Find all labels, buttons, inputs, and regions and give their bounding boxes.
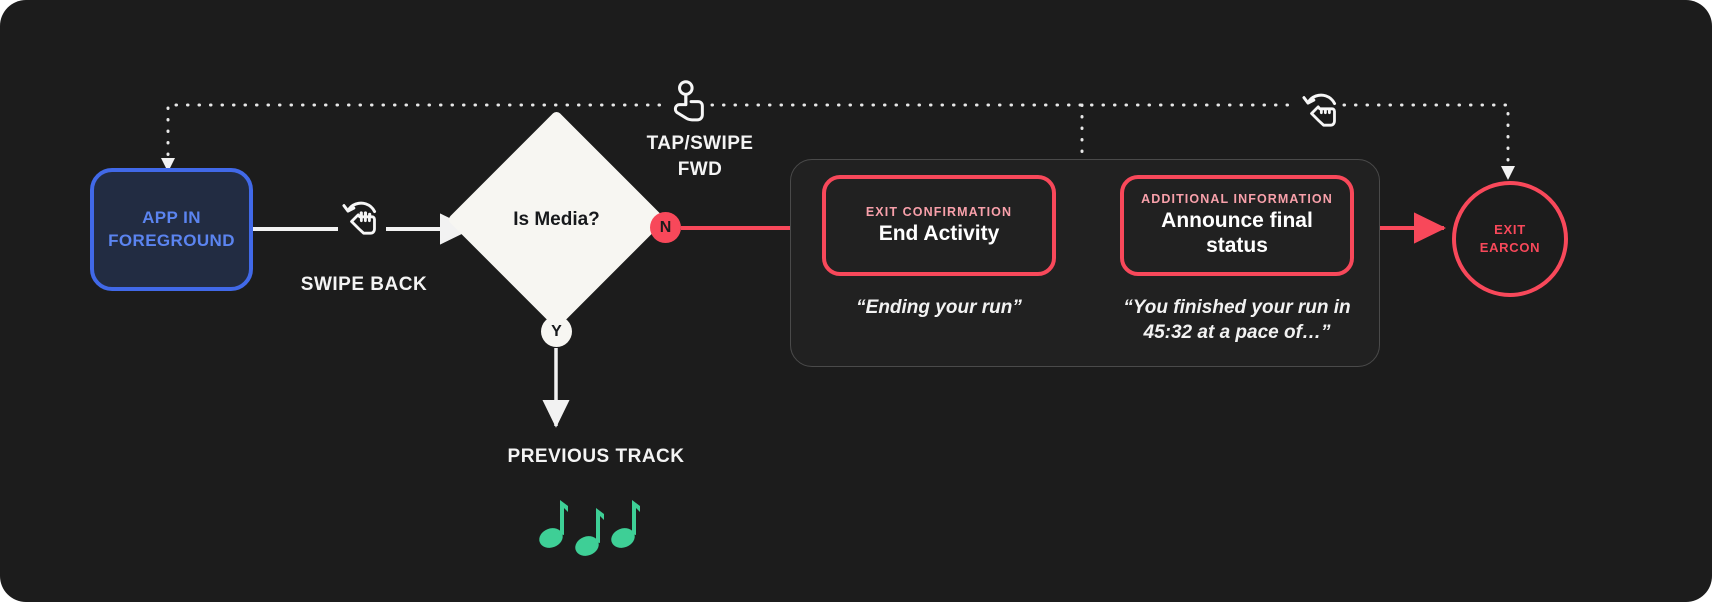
tap-hand-icon xyxy=(667,79,709,125)
card-additional-information-eyebrow: ADDITIONAL INFORMATION xyxy=(1141,192,1333,206)
branch-badge-yes: Y xyxy=(541,316,572,347)
card-exit-confirmation-quote: “Ending your run” xyxy=(822,296,1056,321)
edge-dotted-top-midsegment xyxy=(712,105,1298,159)
card-additional-information-title: Announce final status xyxy=(1138,209,1336,259)
label-tap-swipe-line1: TAP/SWIPE xyxy=(647,133,754,154)
earcon-label-line1: EXIT xyxy=(1494,222,1526,237)
node-exit-earcon[interactable]: EXIT EARCON xyxy=(1452,181,1568,297)
card-exit-confirmation-title: End Activity xyxy=(879,222,1000,247)
node-app-in-foreground-label: APP IN FOREGROUND xyxy=(108,207,235,253)
swipe-forward-hand-icon xyxy=(1300,88,1342,130)
diagram-canvas: APP IN FOREGROUND Is Media? N Y EXIT CON… xyxy=(0,0,1712,602)
swipe-back-hand-icon xyxy=(340,196,382,238)
card-exit-confirmation-eyebrow: EXIT CONFIRMATION xyxy=(866,205,1012,219)
label-tap-swipe-line2: FWD xyxy=(678,159,722,180)
card-additional-information-quote: “You finished your run in 45:32 at a pac… xyxy=(1110,296,1364,345)
card-exit-confirmation[interactable]: EXIT CONFIRMATION End Activity xyxy=(822,175,1056,276)
branch-badge-no: N xyxy=(650,212,681,243)
app-label-line2: FOREGROUND xyxy=(108,231,235,250)
label-previous-track: PREVIOUS TRACK xyxy=(416,446,776,468)
node-exit-earcon-label: EXIT EARCON xyxy=(1480,221,1541,256)
label-tap-swipe-fwd: TAP/SWIPE FWD xyxy=(610,131,790,183)
earcon-label-line2: EARCON xyxy=(1480,240,1541,255)
app-label-line1: APP IN xyxy=(142,208,201,227)
node-app-in-foreground[interactable]: APP IN FOREGROUND xyxy=(90,168,253,291)
music-notes-icon xyxy=(535,494,657,556)
label-swipe-back: SWIPE BACK xyxy=(244,274,484,296)
card-additional-information[interactable]: ADDITIONAL INFORMATION Announce final st… xyxy=(1120,175,1354,276)
